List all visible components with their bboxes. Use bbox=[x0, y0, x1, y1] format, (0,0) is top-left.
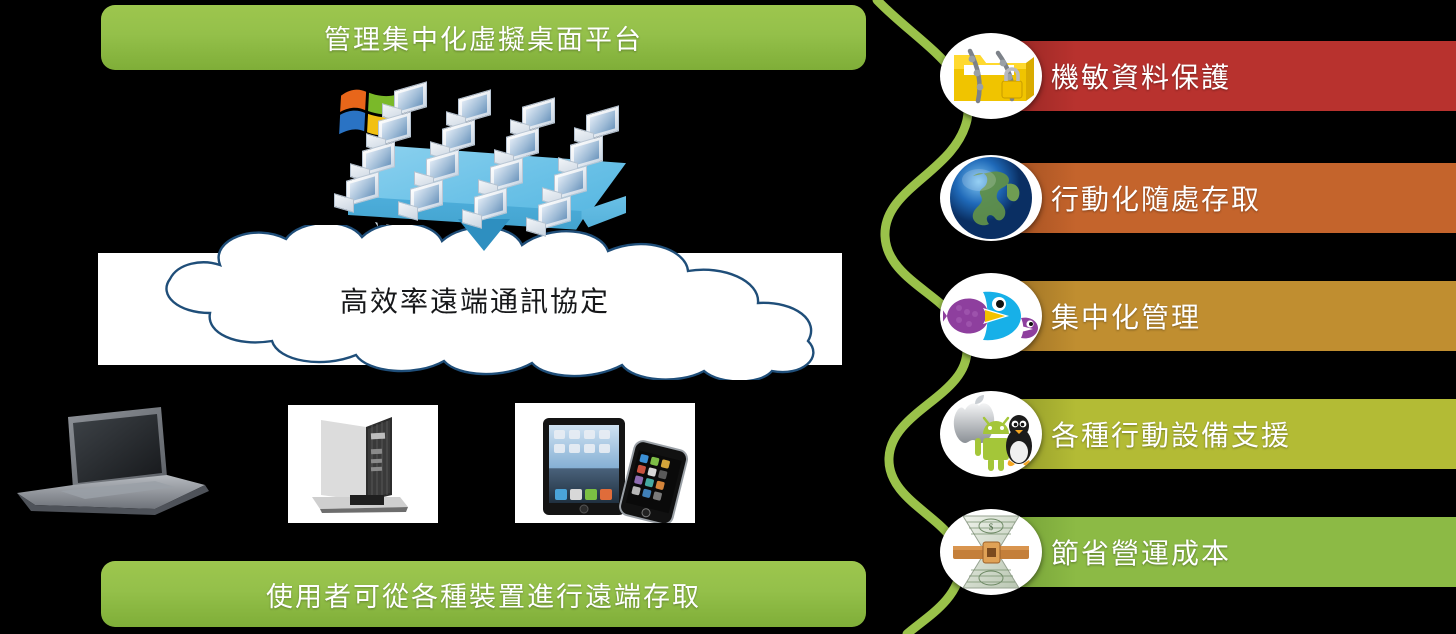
feature-label: 各種行動設備支援 bbox=[1051, 414, 1291, 454]
feature-bar[interactable]: 行動化隨處存取 bbox=[993, 163, 1456, 233]
feature-bar[interactable]: 機敏資料保護 bbox=[993, 41, 1456, 111]
feature-row[interactable]: 集中化管理 bbox=[940, 273, 1456, 359]
feature-label: 機敏資料保護 bbox=[1051, 56, 1231, 96]
cloud-network: 高效率遠端通訊協定 bbox=[60, 225, 890, 380]
apple-android-linux-icon[interactable] bbox=[940, 391, 1042, 477]
feature-bar[interactable]: 各種行動設備支援 bbox=[993, 399, 1456, 469]
diagram-canvas: 管理集中化虛擬桌面平台 VMware 高效率遠端通訊協定 bbox=[0, 0, 1456, 634]
title-banner: 管理集中化虛擬桌面平台 bbox=[101, 5, 866, 70]
cloud-label: 高效率遠端通訊協定 bbox=[60, 280, 890, 320]
bottom-banner-label: 使用者可從各種裝置進行遠端存取 bbox=[266, 575, 701, 614]
money-hourglass-icon[interactable]: $ bbox=[940, 509, 1042, 595]
tablet-phone-icon bbox=[515, 403, 695, 523]
bottom-banner: 使用者可從各種裝置進行遠端存取 bbox=[101, 561, 866, 627]
client-devices bbox=[0, 395, 720, 545]
feature-label: 節省營運成本 bbox=[1051, 532, 1231, 572]
virtual-desktop-node bbox=[334, 176, 380, 216]
title-banner-label: 管理集中化虛擬桌面平台 bbox=[324, 18, 643, 57]
feature-row[interactable]: 各種行動設備支援 bbox=[940, 391, 1456, 477]
feature-label: 行動化隨處存取 bbox=[1051, 178, 1261, 218]
virtual-desktop-node bbox=[462, 192, 508, 232]
feature-bar[interactable]: 集中化管理 bbox=[993, 281, 1456, 351]
feature-label: 集中化管理 bbox=[1051, 296, 1201, 336]
virtual-desktop-node bbox=[398, 184, 444, 224]
feature-bar[interactable]: 節省營運成本 bbox=[993, 517, 1456, 587]
globe-earth-icon[interactable] bbox=[940, 155, 1042, 241]
virtual-desktop-node bbox=[526, 200, 572, 240]
fish-chain-icon[interactable] bbox=[940, 273, 1042, 359]
svg-text:$: $ bbox=[989, 522, 994, 532]
feature-row[interactable]: 行動化隨處存取 bbox=[940, 155, 1456, 241]
locked-folder-icon[interactable] bbox=[940, 33, 1042, 119]
feature-row[interactable]: 機敏資料保護 bbox=[940, 33, 1456, 119]
laptop-icon bbox=[5, 405, 225, 525]
feature-row[interactable]: 節省營運成本 $ bbox=[940, 509, 1456, 595]
desktop-tower-icon bbox=[288, 405, 438, 523]
